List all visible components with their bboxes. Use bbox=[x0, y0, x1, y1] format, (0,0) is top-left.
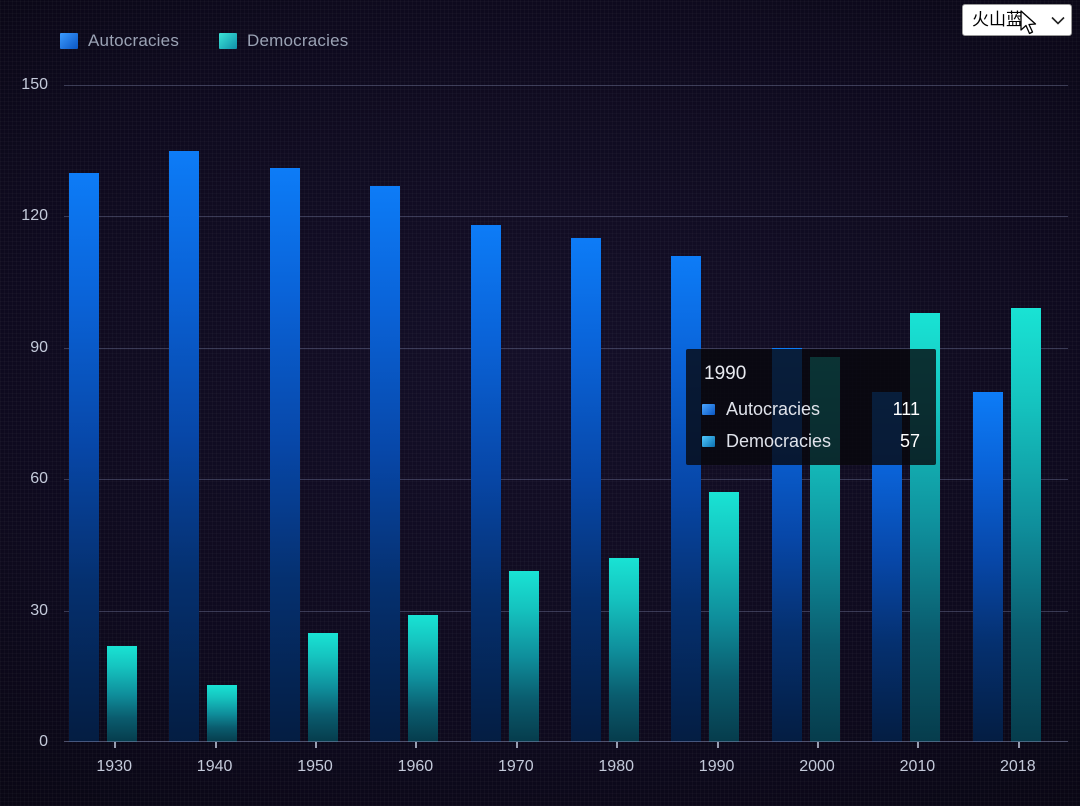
tooltip-title: 1990 bbox=[702, 363, 920, 385]
x-axis-tick-label: 1990 bbox=[677, 758, 757, 776]
bar-group[interactable] bbox=[265, 85, 365, 742]
x-axis-tick-label: 1940 bbox=[175, 758, 255, 776]
bar-autocracies[interactable] bbox=[671, 256, 701, 742]
x-axis-tick-label: 1960 bbox=[375, 758, 455, 776]
bar-democracies[interactable] bbox=[207, 685, 237, 742]
theme-select[interactable]: 火山蓝 bbox=[962, 4, 1072, 36]
bar-group[interactable] bbox=[566, 85, 666, 742]
x-axis-tick bbox=[616, 742, 618, 748]
x-axis-tick-label: 1950 bbox=[275, 758, 355, 776]
bar-autocracies[interactable] bbox=[471, 225, 501, 742]
x-axis-tick-label: 2018 bbox=[978, 758, 1058, 776]
x-axis-tick bbox=[315, 742, 317, 748]
bar-autocracies[interactable] bbox=[370, 186, 400, 742]
x-axis-tick bbox=[415, 742, 417, 748]
bar-autocracies[interactable] bbox=[973, 392, 1003, 742]
legend-marker-icon bbox=[219, 33, 237, 49]
tooltip-row-democracies: Democracies 57 bbox=[702, 431, 920, 452]
legend-item-democracies[interactable]: Democracies bbox=[219, 31, 348, 51]
y-axis-tick-label: 120 bbox=[2, 207, 48, 225]
chart-app: 火山蓝 Autocracies Democracies 030609012015… bbox=[0, 0, 1080, 806]
bar-group[interactable] bbox=[365, 85, 465, 742]
bar-democracies[interactable] bbox=[408, 615, 438, 742]
x-axis-tick-label: 2010 bbox=[877, 758, 957, 776]
y-axis-tick-label: 0 bbox=[2, 733, 48, 751]
tooltip-marker-icon bbox=[702, 404, 715, 415]
x-axis-tick-label: 1980 bbox=[576, 758, 656, 776]
x-axis-tick-label: 1970 bbox=[476, 758, 556, 776]
bar-group[interactable] bbox=[466, 85, 566, 742]
x-axis-tick bbox=[114, 742, 116, 748]
bar-democracies[interactable] bbox=[609, 558, 639, 742]
bar-democracies[interactable] bbox=[709, 492, 739, 742]
y-axis-tick-label: 150 bbox=[2, 76, 48, 94]
tooltip-series-value: 57 bbox=[900, 431, 920, 452]
tooltip-series-name: Autocracies bbox=[726, 399, 893, 420]
bar-group[interactable] bbox=[968, 85, 1068, 742]
x-axis-tick bbox=[1018, 742, 1020, 748]
bar-democracies[interactable] bbox=[1011, 308, 1041, 742]
tooltip-series-name: Democracies bbox=[726, 431, 900, 452]
tooltip-series-value: 111 bbox=[893, 399, 920, 420]
bar-democracies[interactable] bbox=[107, 646, 137, 742]
x-axis-tick-label: 1930 bbox=[74, 758, 154, 776]
y-axis-tick-label: 90 bbox=[2, 339, 48, 357]
tooltip-row-autocracies: Autocracies 111 bbox=[702, 399, 920, 420]
x-axis-tick bbox=[516, 742, 518, 748]
bar-democracies[interactable] bbox=[308, 633, 338, 743]
x-axis-tick-label: 2000 bbox=[777, 758, 857, 776]
x-axis-tick bbox=[215, 742, 217, 748]
x-axis-tick bbox=[917, 742, 919, 748]
legend-label: Democracies bbox=[247, 31, 348, 51]
chevron-down-icon[interactable] bbox=[1045, 16, 1071, 25]
chart-legend: Autocracies Democracies bbox=[60, 31, 348, 51]
legend-item-autocracies[interactable]: Autocracies bbox=[60, 31, 179, 51]
bar-group[interactable] bbox=[64, 85, 164, 742]
chart-tooltip: 1990 Autocracies 111 Democracies 57 bbox=[686, 349, 936, 465]
theme-select-value: 火山蓝 bbox=[963, 10, 1045, 30]
bar-group[interactable] bbox=[164, 85, 264, 742]
bar-autocracies[interactable] bbox=[571, 238, 601, 742]
bar-autocracies[interactable] bbox=[69, 173, 99, 742]
legend-label: Autocracies bbox=[88, 31, 179, 51]
y-axis-tick-label: 30 bbox=[2, 602, 48, 620]
x-axis-tick bbox=[717, 742, 719, 748]
tooltip-marker-icon bbox=[702, 436, 715, 447]
bar-autocracies[interactable] bbox=[270, 168, 300, 742]
y-axis-tick-label: 60 bbox=[2, 470, 48, 488]
bar-democracies[interactable] bbox=[509, 571, 539, 742]
legend-marker-icon bbox=[60, 33, 78, 49]
bar-autocracies[interactable] bbox=[169, 151, 199, 742]
x-axis-tick bbox=[817, 742, 819, 748]
